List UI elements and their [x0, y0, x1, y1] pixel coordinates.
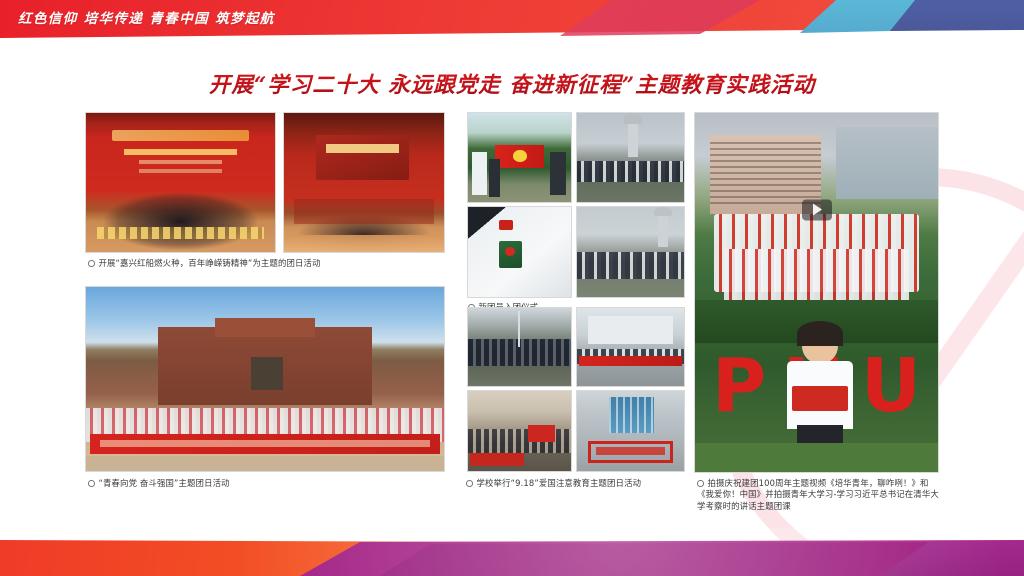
photo-hongchuan-ceremony [85, 112, 276, 253]
footer-glow [0, 528, 1024, 576]
caption-bottom-left-text: “青春向党 奋斗强国”主题团日活动 [99, 478, 230, 488]
photo-oath-flag [467, 112, 572, 203]
page-title: 开展“学习二十大 永远跟党走 奋进新征程”主题教育实践活动 [0, 68, 1024, 99]
photo-phu-video[interactable]: PHU [694, 112, 939, 473]
bottom-banner [0, 528, 1024, 576]
top-banner: 红色信仰 培华传递 青春中国 筑梦起航 [0, 0, 1024, 38]
photo-building-display [576, 390, 685, 472]
photo-banner-group [576, 307, 685, 387]
photo-stage-event [283, 112, 445, 253]
photo-monument-crowd [576, 206, 685, 298]
presentation-slide: 红色信仰 培华传递 青春中国 筑梦起航 开展“学习二十大 永远跟党走 奋进新征程… [0, 0, 1024, 576]
caption-bottom-left: “青春向党 奋斗强国”主题团日活动 [88, 478, 448, 489]
caption-bottom-middle-text: 学校举行“9.18”爱国注意教育主题团日活动 [477, 478, 642, 488]
caption-bottom-right: 拍摄庆祝建团100周年主题视频《培华青年，聊咋咧！》和《我爱你！中国》并拍摄青年… [697, 478, 945, 512]
caption-top-left-text: 开展“嘉兴红船燃火种，百年峥嵘铸精神”为主题的团日活动 [99, 258, 321, 268]
bullet-icon [697, 480, 704, 487]
photo-collage: 开展“嘉兴红船燃火种，百年峥嵘铸精神”为主题的团日活动 新团员入团仪式 [0, 106, 1024, 518]
caption-top-left: 开展“嘉兴红船燃火种，百年峥嵘铸精神”为主题的团日活动 [88, 258, 448, 269]
photo-monument-visit [576, 112, 685, 203]
banner-slogan: 红色信仰 培华传递 青春中国 筑梦起航 [18, 7, 275, 27]
bullet-icon [88, 480, 95, 487]
photo-flag-line [467, 307, 572, 387]
bullet-icon [466, 480, 473, 487]
photo-indoor-exhibit [467, 390, 572, 472]
photo-membership-card [467, 206, 572, 298]
caption-bottom-right-text: 拍摄庆祝建团100周年主题视频《培华青年，聊咋咧！》和《我爱你！中国》并拍摄青年… [697, 478, 939, 511]
play-icon[interactable] [802, 199, 832, 220]
photo-campus-group [85, 286, 445, 472]
bullet-icon [88, 260, 95, 267]
caption-bottom-middle: 学校举行“9.18”爱国注意教育主题团日活动 [466, 478, 696, 489]
